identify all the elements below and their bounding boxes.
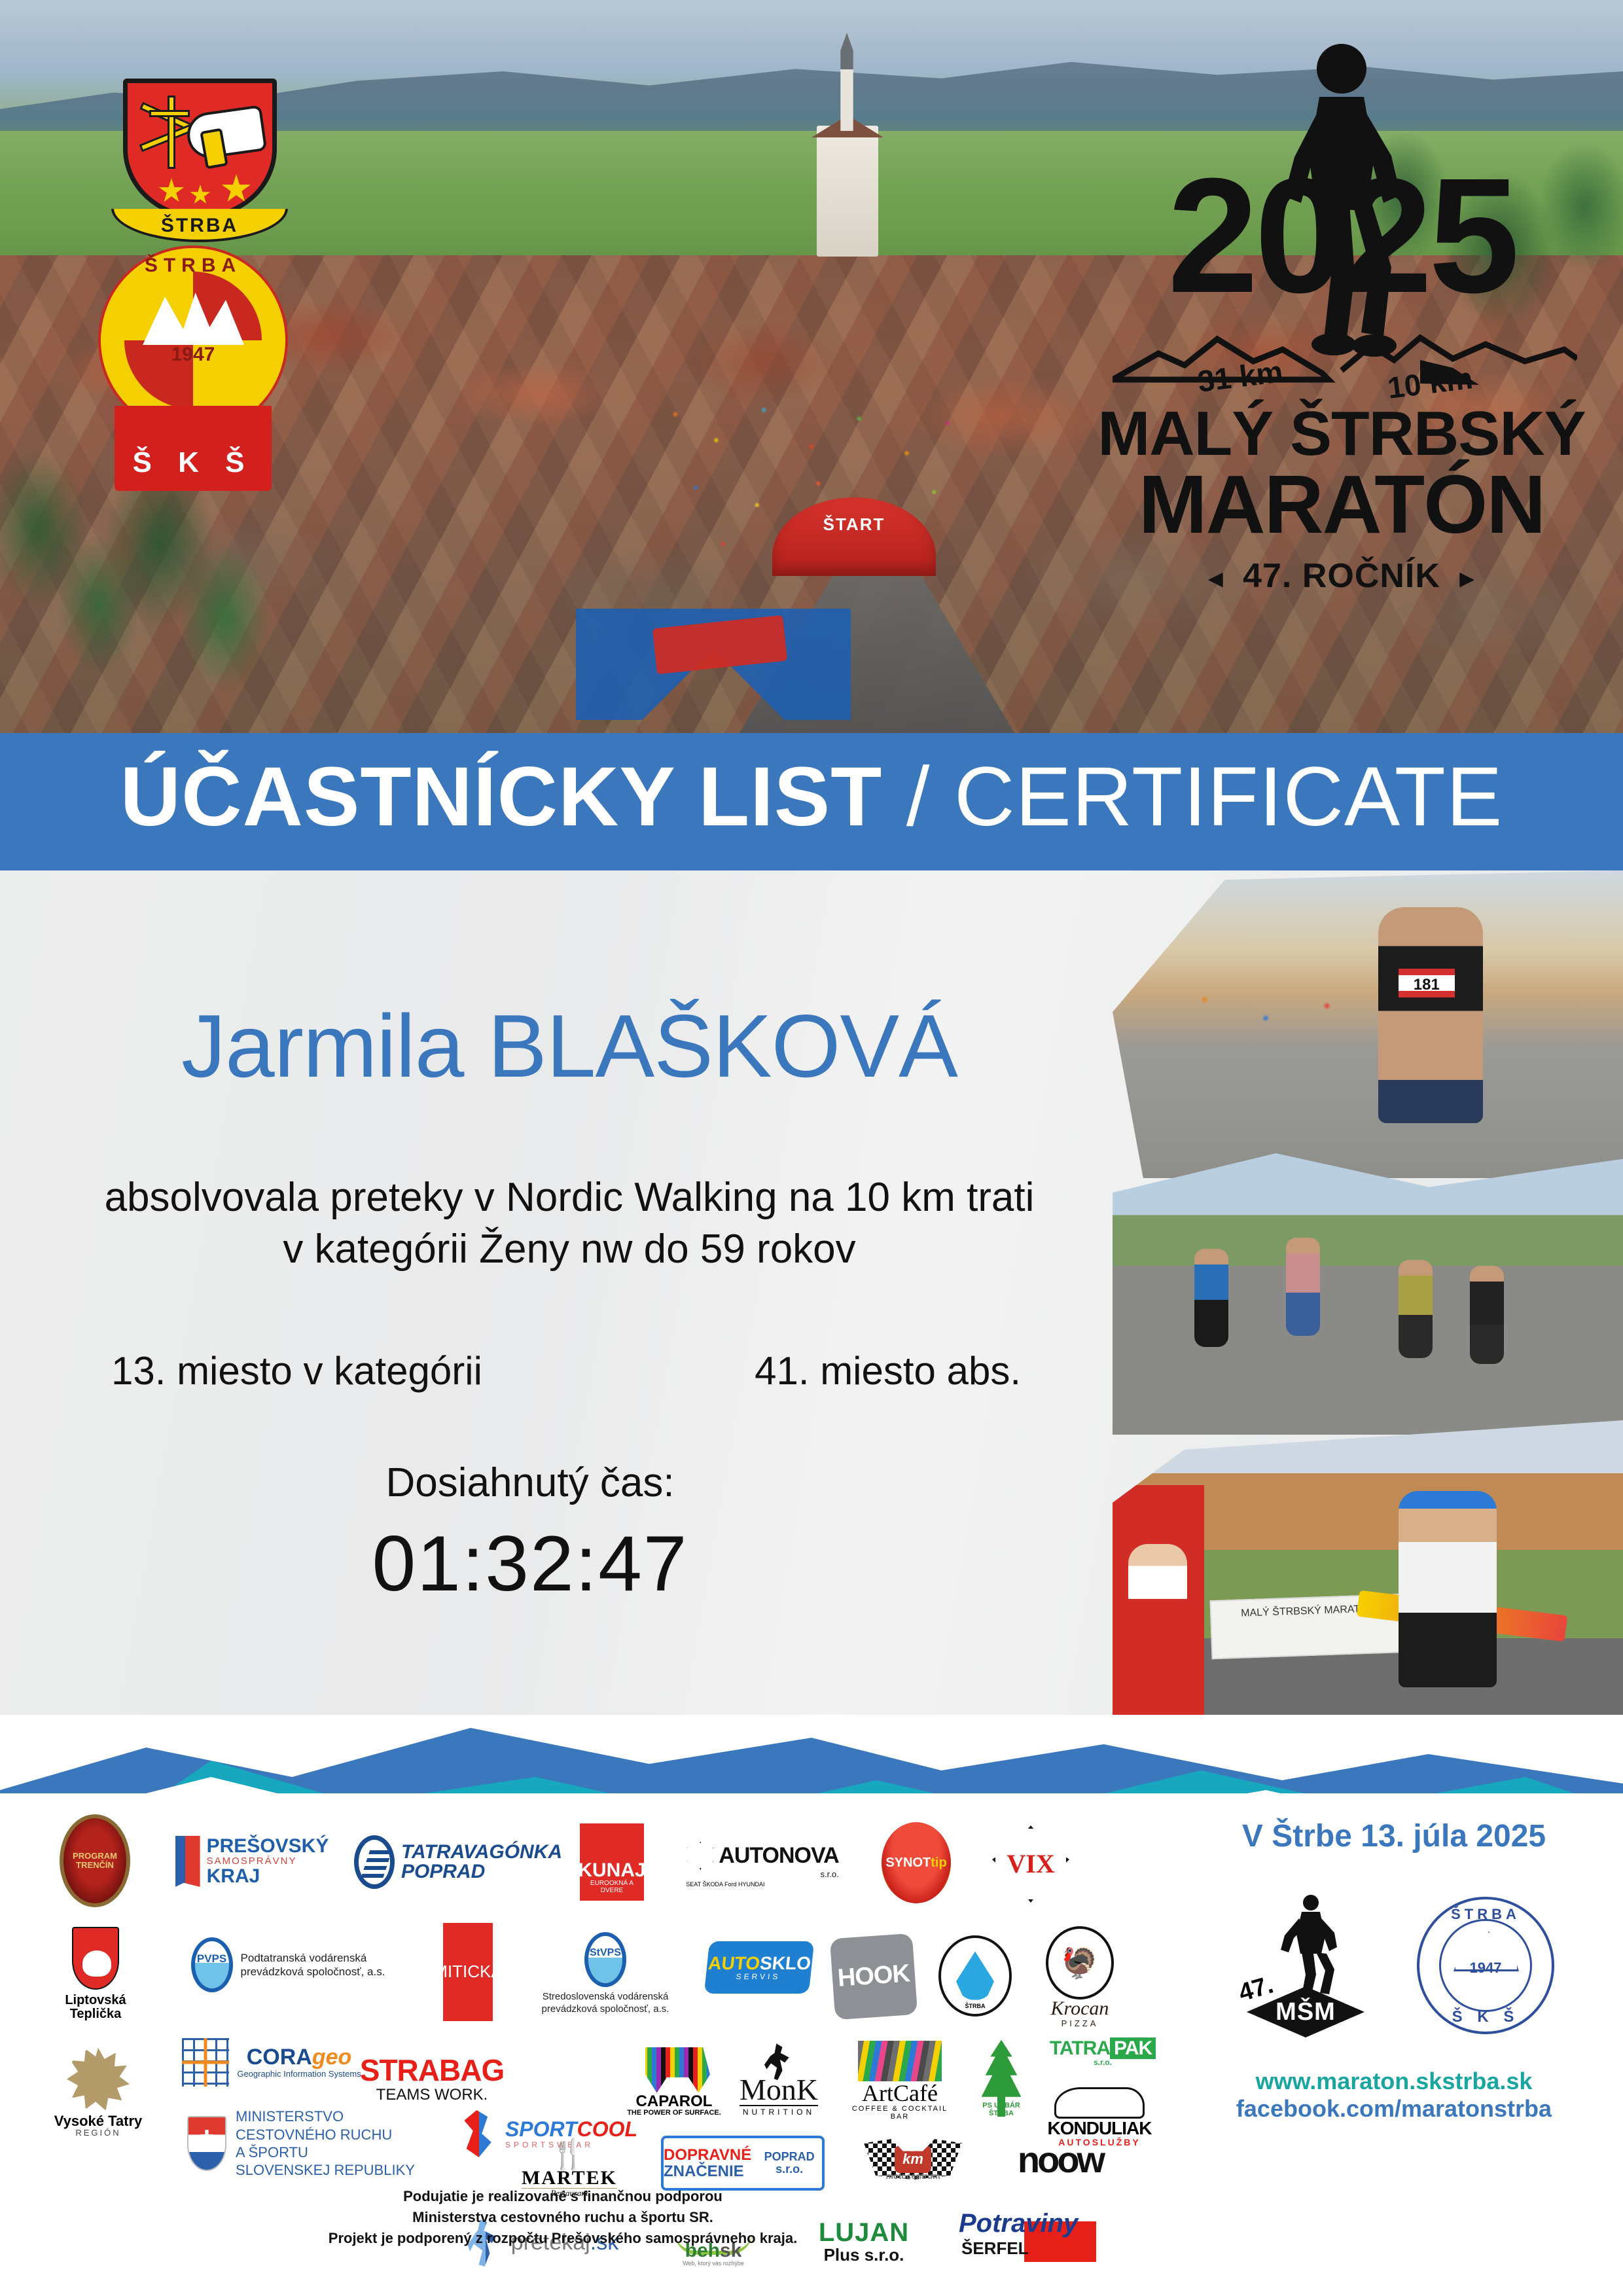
autonova-name: AUTONOVA — [719, 1844, 838, 1868]
sponsor-pd-strba[interactable]: ŠTRBA — [929, 1928, 1021, 2023]
vix-name: VIX — [992, 1825, 1069, 1903]
sks-stamp-logo-icon: ŠTRBA 1947 Š K Š — [1417, 1897, 1554, 2034]
slovak-coat-of-arms-icon — [187, 2116, 226, 2171]
dopravne-line2: ZNAČENIE — [664, 2163, 751, 2179]
sponsor-kunaj[interactable]: KUNAJ EUROOKNÁ A DVERE — [563, 1820, 661, 1905]
vysoke-tatry-emblem-icon — [67, 2048, 130, 2111]
krocan-turkey-icon: 🦃 — [1046, 1926, 1114, 2000]
msm-logo-icon: 47. MŠM — [1234, 1893, 1378, 2037]
dopravne-line1: DOPRAVNÉ — [664, 2147, 751, 2163]
sponsor-program-trencin[interactable]: PROGRAM TRENČÍN — [46, 1812, 144, 1910]
finish-time-value: 01:32:47 — [39, 1518, 1021, 1609]
sponsor-noow[interactable]: noow — [1001, 2127, 1119, 2193]
support-note-line3: Projekt je podporený z rozpočtu Prešovsk… — [52, 2228, 1073, 2249]
sponsor-corageo[interactable]: CORAgeo Geographic Information Systems — [164, 2026, 380, 2098]
corageo-grid-icon — [182, 2038, 229, 2087]
vysoke-tatry-line2: REGIÓN — [54, 2128, 143, 2138]
psurbar-line2: ŠTRBA — [976, 2110, 1026, 2118]
tatravagonka-mark-icon — [354, 1835, 395, 1889]
sponsor-stvps[interactable]: StVPS Stredoslovenská vodárenská prevádz… — [517, 1922, 694, 2026]
tatravagonka-line1: TATRAVAGÓNKA — [401, 1842, 562, 1862]
sportcool-swoosh-icon — [462, 2110, 499, 2157]
msm-runner-icon — [1273, 1893, 1345, 1998]
footer-links: www.maraton.skstrba.sk facebook.com/mara… — [1178, 2068, 1610, 2123]
kunaj-tagline: EUROOKNÁ A DVERE — [580, 1880, 644, 1894]
sponsor-logo-grid: PROGRAM TRENČÍN PREŠOVSKÝ SAMOSPRÁVNY KR… — [46, 1806, 1158, 2212]
kunaj-name: KUNAJ — [578, 1860, 645, 1881]
marathon-title-line2: MARATÓN — [1073, 463, 1610, 546]
miticka-name: MITICKÁ — [443, 1923, 493, 2021]
ministerstvo-line2: CESTOVNÉHO RUCHU — [236, 2126, 415, 2144]
sponsor-program-city: TRENČÍN — [76, 1861, 114, 1870]
marathon-title-line1: MALÝ ŠTRBSKÝ — [1073, 403, 1610, 465]
support-note-line2: Ministerstva cestovného ruchu a športu S… — [52, 2207, 1073, 2228]
sponsor-liptovska-teplicka[interactable]: Liptovská Teplička — [50, 1922, 141, 2026]
photo-runners-uphill — [1113, 1153, 1623, 1435]
banner-title-sk: ÚČASTNÍCKY LIST — [120, 750, 883, 844]
banner-heading: ÚČASTNÍCKY LIST / CERTIFICATE — [0, 755, 1623, 839]
marathon-year: 2025 — [1073, 154, 1610, 317]
marathon-title-block: 2025 31 km 10 km MALÝ ŠTRBSKÝ MARATÓN 47… — [1073, 39, 1610, 589]
footer-right-column: V Štrbe 13. júla 2025 — [1178, 1806, 1610, 2265]
autonova-suffix: s.r.o. — [686, 1870, 838, 1879]
corageo-part-a: CORA — [247, 2045, 312, 2070]
presovsky-mark-icon — [175, 1836, 200, 1887]
sks-abbrev-label: Š K Š — [115, 446, 272, 479]
tatrapak-suffix: s.r.o. — [1050, 2058, 1156, 2067]
athlete-name: Jarmila BLAŠKOVÁ — [39, 1001, 1099, 1090]
crest-ribbon-label: ŠTRBA — [111, 215, 288, 237]
photo-bib-number: 181 — [1399, 969, 1455, 997]
presovsky-line1: PREŠOVSKÝ — [207, 1837, 329, 1856]
autosklo-part-b: SKLO — [759, 1953, 812, 1973]
sks-year-label: 1947 — [98, 344, 288, 366]
noow-name: noow — [1018, 2141, 1103, 2179]
photo-female-finisher: 181 — [1113, 870, 1623, 1178]
website-url[interactable]: www.maraton.skstrba.sk — [1178, 2068, 1610, 2095]
sponsor-vysoke-tatry[interactable]: Vysoké Tatry REGIÓN — [46, 2037, 151, 2148]
liptovska-line1: Liptovská — [65, 1994, 126, 2007]
hook-name: HOOK — [830, 1933, 918, 2020]
sponsor-program-name: PROGRAM — [73, 1852, 117, 1861]
autosklo-part-a: AUTO — [707, 1953, 761, 1973]
liptovska-crest-icon — [72, 1927, 119, 1990]
autosklo-tagline: SERVIS — [736, 1973, 781, 1981]
motocentrum-badge: km — [895, 2145, 931, 2173]
beh-tagline: Web, ktorý vás rozhýbe — [674, 2261, 753, 2267]
pd-strba-label: ŠTRBA — [965, 2003, 986, 2009]
facebook-url[interactable]: facebook.com/maratonstrba — [1178, 2095, 1610, 2123]
sponsor-krocan-pizza[interactable]: 🦃 Krocan PIZZA — [1027, 1928, 1132, 2026]
autonova-brand-list: SEAT ŠKODA Ford HYUNDAI — [686, 1882, 838, 1888]
sponsor-artcafe[interactable]: ArtCafé COFFEE & COCKTAIL BAR — [844, 2032, 955, 2130]
tatravagonka-line2: POPRAD — [401, 1862, 562, 1882]
pd-waterdrop-icon — [956, 1952, 994, 2000]
description-line-2: v kategórii Ženy nw do 59 rokov — [39, 1223, 1099, 1275]
lujan-line2: Plus s.r.o. — [819, 2246, 909, 2264]
certificate-page: ŠTRBA ŠTRBA 1947 ŠPORTOVÝ KLUB Š K Š — [0, 0, 1623, 2296]
vysoke-tatry-line1: Vysoké Tatry — [54, 2113, 143, 2128]
placement-row: 13. miesto v kategórii 41. miesto abs. — [72, 1348, 1093, 1393]
ministerstvo-line1: MINISTERSTVO — [236, 2108, 415, 2125]
time-label: Dosiahnutý čas: — [39, 1460, 1021, 1506]
sponsor-presovsky-kraj[interactable]: PREŠOVSKÝ SAMOSPRÁVNY KRAJ — [157, 1822, 347, 1901]
synottip-part-b: tip — [931, 1856, 946, 1870]
konduliak-car-icon — [1054, 2087, 1145, 2119]
sponsor-hook[interactable]: HOOK — [825, 1931, 923, 2022]
corageo-tagline: Geographic Information Systems — [237, 2070, 361, 2079]
photo-finish-line: MALÝ ŠTRBSKÝ MARATÓN — [1113, 1420, 1623, 1715]
sks-stamp-year: 1947 — [1417, 1960, 1554, 1977]
distance-mountains-graphic: 31 km 10 km — [1113, 321, 1577, 399]
sponsor-ministerstvo[interactable]: MINISTERSTVO CESTOVNÉHO RUCHU A ŠPORTU S… — [157, 2094, 445, 2193]
sponsor-tatravagonka-poprad[interactable]: TATRAVAGÓNKA POPRAD — [360, 1826, 556, 1898]
sponsor-pvps[interactable]: PVPS Podtatranská vodárenská prevádzková… — [157, 1926, 419, 2004]
support-note-line1: Podujatie je realizované s finančnou pod… — [52, 2186, 1073, 2207]
description-line-1: absolvovala preteky v Nordic Walking na … — [39, 1172, 1099, 1223]
place-in-category: 13. miesto v kategórii — [111, 1348, 482, 1393]
martek-cutlery-icon: 🍴 — [522, 2142, 617, 2168]
monk-tagline: NUTRITION — [740, 2105, 818, 2117]
sks-stamp-abbrev: Š K Š — [1417, 2008, 1554, 2026]
liptovska-line2: Teplička — [65, 2007, 126, 2021]
tatrapak-part-a: TATRA — [1050, 2037, 1110, 2059]
artcafe-tagline: COFFEE & COCKTAIL BAR — [844, 2106, 955, 2121]
sks-stamp-top: ŠTRBA — [1417, 1906, 1554, 1923]
presovsky-line3: KRAJ — [207, 1867, 329, 1886]
strabag-name: STRABAG — [360, 2054, 504, 2086]
stvps-abbrev: StVPS — [584, 1932, 626, 1987]
sponsor-ps-urbar-strba[interactable]: PS URBÁR ŠTRBA — [962, 2026, 1041, 2131]
sponsor-synottip[interactable]: SYNOTtip — [870, 1817, 962, 1909]
sponsor-tatrapak[interactable]: TATRAPAK s.r.o. — [1047, 2026, 1158, 2079]
stvps-line2: prevádzková spoločnosť, a.s. — [542, 2003, 669, 2016]
stvps-line1: Stredoslovenská vodárenská — [542, 1991, 669, 2003]
sks-top-label: ŠTRBA — [98, 255, 288, 277]
race-crowd — [641, 393, 982, 609]
church-building — [805, 33, 890, 295]
synottip-part-a: SYNOT — [885, 1856, 931, 1870]
artcafe-name: ArtCafé — [844, 2081, 955, 2106]
sponsor-monk-nutrition[interactable]: MonK NUTRITION — [720, 2034, 838, 2126]
sponsor-vix[interactable]: VIX — [982, 1818, 1080, 1910]
krocan-name: Krocan — [1046, 1998, 1114, 2019]
sponsor-footer: PROGRAM TRENČÍN PREŠOVSKÝ SAMOSPRÁVNY KR… — [0, 1793, 1623, 2296]
marathon-edition-label: 47. ROČNÍK — [1073, 556, 1610, 596]
ministerstvo-line3: A ŠPORTU — [236, 2144, 415, 2161]
ministerstvo-line4: SLOVENSKEJ REPUBLIKY — [236, 2161, 415, 2179]
footer-logo-row: 47. MŠM ŠTRBA 1947 Š K Š — [1178, 1893, 1610, 2037]
sponsor-autosklo-servis[interactable]: AUTOSKLO SERVIS — [700, 1935, 818, 2000]
sks-abbrev-band: Š K Š — [115, 406, 272, 491]
motocentrum-name: motocentrum — [864, 2172, 962, 2181]
corageo-part-b: geo — [312, 2045, 351, 2070]
pvps-line2: prevádzková spoločnosť, a.s. — [241, 1965, 385, 1979]
dopravne-line3: POPRAD s.r.o. — [757, 2151, 822, 2176]
event-date: V Štrbe 13. júla 2025 — [1178, 1818, 1610, 1854]
caparol-elephant-icon — [638, 2047, 710, 2093]
monk-name: MonK — [740, 2075, 818, 2105]
support-note: Podujatie je realizované s finančnou pod… — [52, 2186, 1073, 2249]
martek-name: MARTEK — [522, 2168, 617, 2189]
sponsor-miticka[interactable]: MITICKÁ — [432, 1918, 504, 2026]
place-absolute: 41. miesto abs. — [755, 1348, 1021, 1393]
tatrapak-part-b: PAK — [1110, 2037, 1156, 2059]
sponsor-autonova[interactable]: AUTONOVA s.r.o. SEAT ŠKODA Ford HYUNDAI — [668, 1816, 857, 1914]
certificate-description: absolvovala preteky v Nordic Walking na … — [39, 1172, 1099, 1276]
artcafe-stripes-icon — [858, 2041, 942, 2081]
autonova-star-icon — [686, 1841, 715, 1870]
photo-collage: 181 MALÝ ŠTRBSKÝ MARATÓN — [1113, 870, 1623, 1715]
pvps-line1: Podtatranská vodárenská — [241, 1951, 385, 1965]
banner-title-en: CERTIFICATE — [954, 750, 1503, 844]
pvps-abbrev: PVPS — [191, 1937, 233, 1992]
banner-separator: / — [882, 750, 954, 844]
